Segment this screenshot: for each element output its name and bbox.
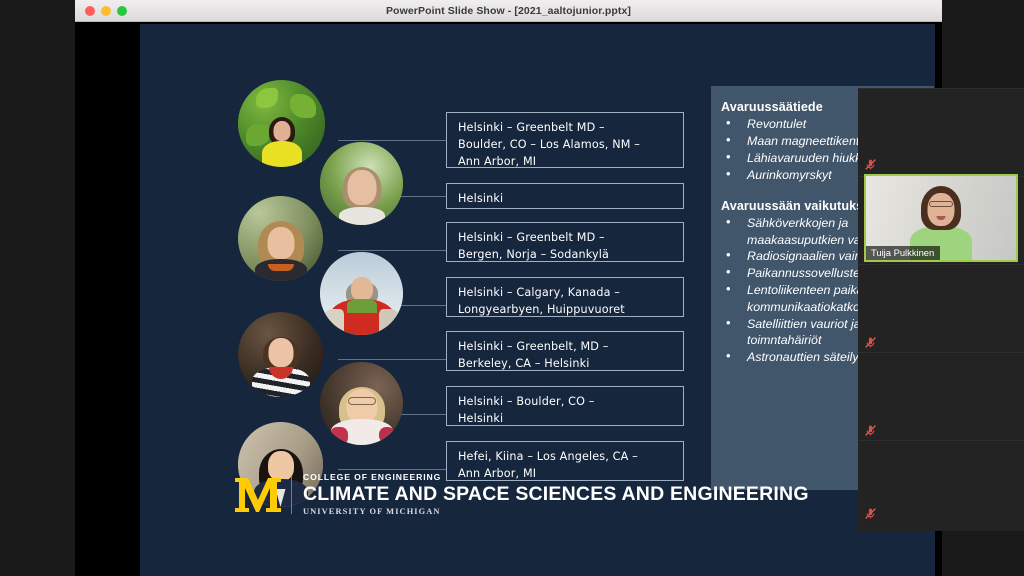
logo-divider — [291, 476, 292, 514]
portrait-6 — [320, 362, 403, 445]
connector-line — [338, 469, 446, 470]
connector-line — [338, 140, 446, 141]
portrait-5 — [238, 312, 323, 397]
logo-line-college: COLLEGE OF ENGINEERING — [303, 472, 809, 483]
career-box-4[interactable]: Helsinki – Calgary, Kanada – Longyearbye… — [446, 277, 684, 317]
maximize-button[interactable] — [117, 6, 127, 16]
career-box-6[interactable]: Helsinki – Boulder, CO – Helsinki — [446, 386, 684, 426]
career-box-6-line-2: Helsinki — [458, 410, 674, 427]
window-title: PowerPoint Slide Show - [2021_aaltojunio… — [75, 5, 942, 17]
participant-divider — [858, 88, 1024, 89]
video-participant-sidebar[interactable]: Tuija Pulkkinen — [858, 88, 1024, 531]
speaker-glasses — [929, 201, 953, 207]
portrait-3 — [238, 196, 323, 281]
participant-divider — [858, 264, 1024, 265]
career-box-4-line-1: Helsinki – Calgary, Kanada – — [458, 284, 674, 301]
career-box-2[interactable]: Helsinki — [446, 183, 684, 209]
career-box-5-line-1: Helsinki – Greenbelt, MD – — [458, 338, 674, 355]
portrait-4 — [320, 252, 403, 335]
powerpoint-slide[interactable]: Helsinki – Greenbelt MD – Boulder, CO – … — [140, 24, 935, 576]
career-box-5-line-2: Berkeley, CA – Helsinki — [458, 355, 674, 372]
career-box-5[interactable]: Helsinki – Greenbelt, MD – Berkeley, CA … — [446, 331, 684, 371]
career-box-6-line-1: Helsinki – Boulder, CO – — [458, 393, 674, 410]
minimize-button[interactable] — [101, 6, 111, 16]
career-box-7-line-1: Hefei, Kiina – Los Angeles, CA – — [458, 448, 674, 465]
participant-name-label: Tuija Pulkkinen — [866, 246, 940, 260]
window-traffic-lights[interactable] — [85, 6, 127, 16]
close-button[interactable] — [85, 6, 95, 16]
career-box-4-line-2: Longyearbyen, Huippuvuoret — [458, 301, 674, 318]
portrait-1 — [238, 80, 325, 167]
participant-divider — [858, 440, 1024, 441]
career-box-2-line-1: Helsinki — [458, 190, 674, 207]
career-box-1-line-3: Ann Arbor, MI — [458, 153, 674, 170]
career-box-1-line-2: Boulder, CO – Los Alamos, NM – — [458, 136, 674, 153]
muted-microphone-icon[interactable] — [864, 336, 877, 349]
career-box-1[interactable]: Helsinki – Greenbelt MD – Boulder, CO – … — [446, 112, 684, 168]
career-box-1-line-1: Helsinki – Greenbelt MD – — [458, 119, 674, 136]
muted-microphone-icon[interactable] — [864, 507, 877, 520]
window-titlebar: PowerPoint Slide Show - [2021_aaltojunio… — [75, 0, 942, 22]
career-box-3-line-2: Bergen, Norja – Sodankylä — [458, 246, 674, 263]
portrait-2 — [320, 142, 403, 225]
block-m-icon — [235, 475, 281, 515]
connector-line — [338, 359, 446, 360]
logo-line-university: UNIVERSITY OF MICHIGAN — [303, 506, 809, 517]
career-box-3-line-1: Helsinki – Greenbelt MD – — [458, 229, 674, 246]
connector-line — [338, 250, 446, 251]
speaker-face — [928, 193, 955, 226]
slideshow-stage[interactable]: Helsinki – Greenbelt MD – Boulder, CO – … — [75, 22, 942, 576]
muted-microphone-icon[interactable] — [864, 424, 877, 437]
logo-line-department: CLIMATE AND SPACE SCIENCES AND ENGINEERI… — [303, 483, 809, 506]
university-of-michigan-logo-block: COLLEGE OF ENGINEERING CLIMATE AND SPACE… — [235, 472, 809, 517]
career-box-3[interactable]: Helsinki – Greenbelt MD – Bergen, Norja … — [446, 222, 684, 262]
participant-divider — [858, 352, 1024, 353]
muted-microphone-icon[interactable] — [864, 158, 877, 171]
active-speaker-video-tile[interactable]: Tuija Pulkkinen — [864, 174, 1018, 262]
